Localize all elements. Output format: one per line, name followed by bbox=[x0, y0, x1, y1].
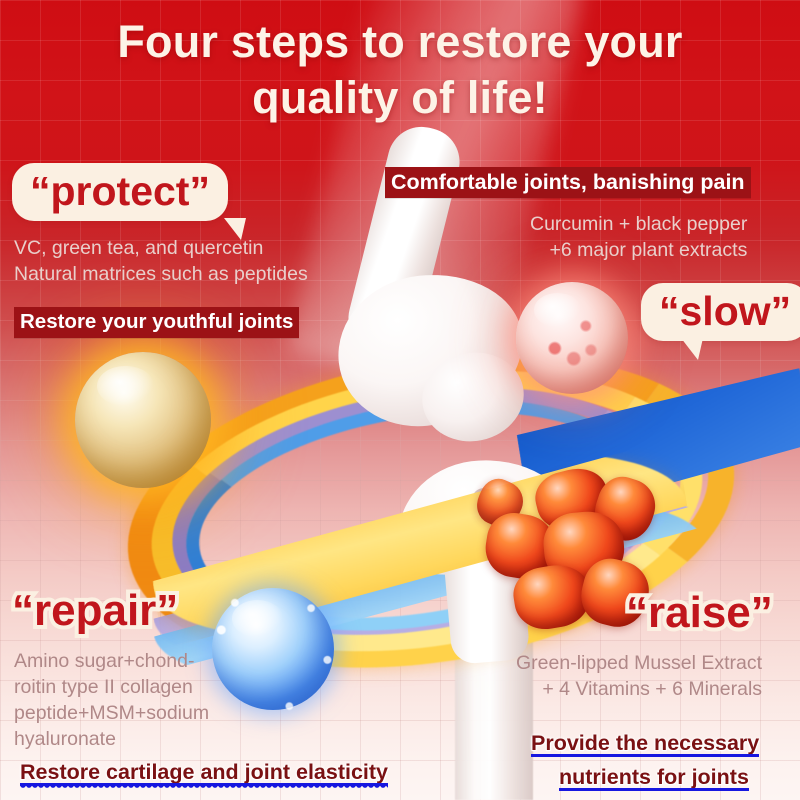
step-ingredients-raise: Green-lipped Mussel Extract + 4 Vitamins… bbox=[516, 650, 762, 702]
step-benefit-raise-text-2: nutrients for joints bbox=[559, 765, 749, 789]
crystal-shard bbox=[541, 509, 627, 588]
tibia-plateau bbox=[389, 449, 581, 580]
orb-gloss bbox=[97, 366, 154, 407]
crystal-shard bbox=[530, 462, 614, 536]
step-benefit-repair-text: Restore cartilage and joint elasticity bbox=[20, 760, 388, 784]
step-label-repair-text: “repair” bbox=[12, 586, 178, 635]
femur-knob bbox=[414, 343, 532, 450]
wavy-underline bbox=[531, 754, 759, 761]
ribbon-blue-patch bbox=[513, 368, 800, 522]
tibia-bone bbox=[395, 460, 585, 660]
blue-orb bbox=[212, 588, 334, 710]
title-line-2: quality of life! bbox=[60, 70, 740, 126]
step-ingredients-slow: Curcumin + black pepper +6 major plant e… bbox=[530, 211, 747, 263]
step-benefit-repair: Restore cartilage and joint elasticity bbox=[20, 757, 388, 787]
tibia-notch bbox=[471, 487, 501, 555]
step-label-slow: “slow” bbox=[641, 283, 800, 341]
step-label-raise: “raise” bbox=[626, 588, 773, 638]
crystal-shard bbox=[471, 473, 530, 533]
step-benefit-raise-line1: Provide the necessary bbox=[531, 728, 759, 758]
orb-gloss bbox=[534, 293, 581, 327]
ribbon-ring-blue bbox=[170, 369, 667, 661]
title-line-1: Four steps to restore your bbox=[60, 14, 740, 70]
ribbon-ring-purple bbox=[154, 354, 685, 667]
poster-canvas: Four steps to restore your quality of li… bbox=[0, 0, 800, 800]
orb-veins bbox=[529, 295, 614, 380]
step-benefit-protect: Restore your youthful joints bbox=[14, 307, 299, 338]
crystal-shard bbox=[510, 560, 595, 633]
orb-droplets bbox=[205, 581, 342, 718]
step-benefit-raise-line2: nutrients for joints bbox=[559, 762, 749, 792]
step-label-protect-text: “protect” bbox=[30, 168, 210, 214]
step-label-repair: “repair” bbox=[12, 586, 178, 636]
step-benefit-slow: Comfortable joints, banishing pain bbox=[385, 167, 751, 198]
wavy-underline bbox=[559, 788, 749, 795]
orb-gloss bbox=[232, 600, 283, 637]
wavy-underline bbox=[20, 783, 388, 790]
crystal-shard bbox=[588, 471, 662, 548]
bubble-tail bbox=[681, 338, 703, 360]
step-label-slow-text: “slow” bbox=[659, 288, 791, 334]
ribbon-sash-gold bbox=[142, 429, 699, 662]
tibia-shaft bbox=[441, 529, 530, 665]
poster-title: Four steps to restore your quality of li… bbox=[0, 14, 800, 126]
crystal-shard bbox=[481, 509, 558, 583]
step-ingredients-repair: Amino sugar+chond- roitin type II collag… bbox=[14, 648, 209, 752]
gold-orb bbox=[75, 352, 211, 488]
step-label-raise-text: “raise” bbox=[626, 588, 773, 637]
step-label-protect: “protect” bbox=[12, 163, 228, 221]
step-ingredients-protect: VC, green tea, and quercetin Natural mat… bbox=[14, 235, 308, 287]
femur-condyle bbox=[331, 266, 531, 435]
pink-orb bbox=[516, 282, 628, 394]
step-benefit-raise-text-1: Provide the necessary bbox=[531, 731, 759, 755]
femur-shaft bbox=[341, 120, 467, 361]
